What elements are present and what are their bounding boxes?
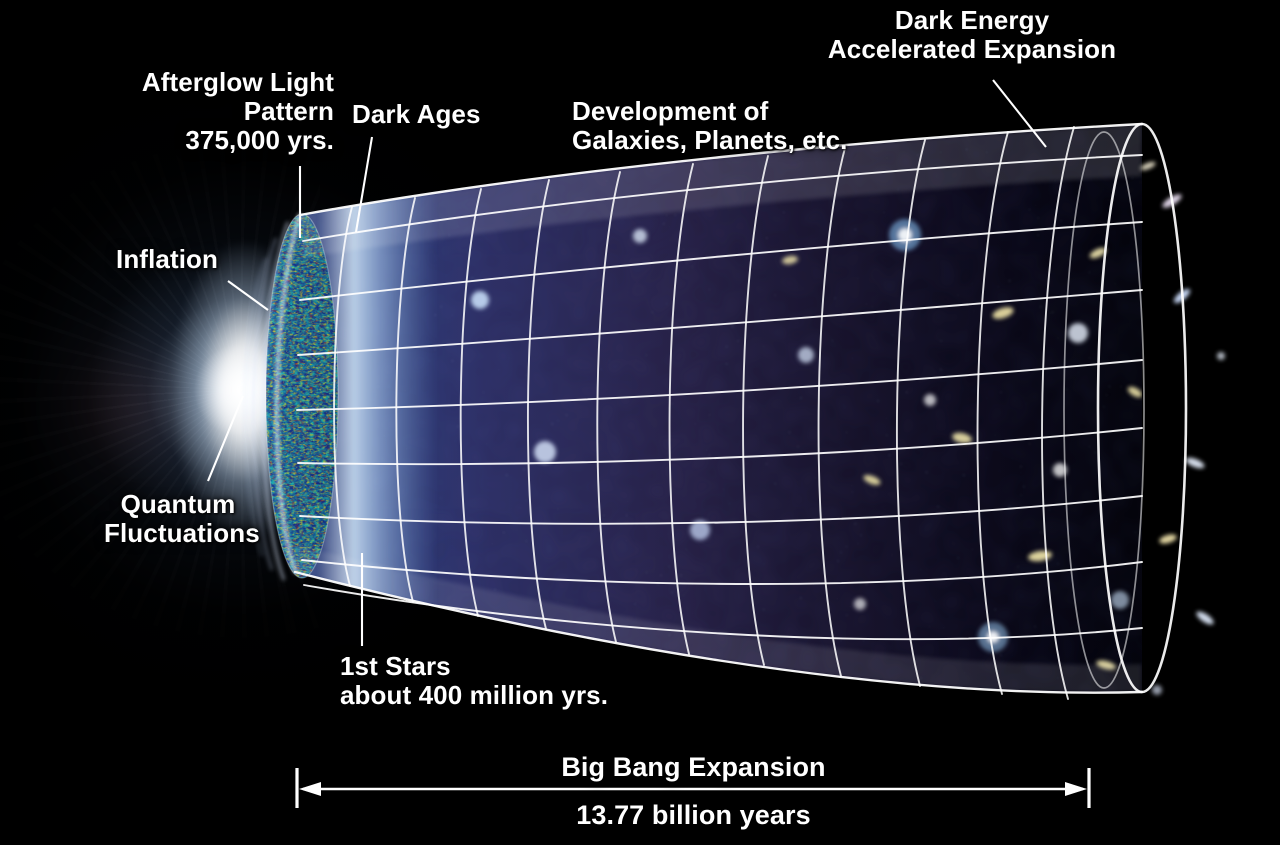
label-dark-ages: Dark Ages bbox=[352, 100, 481, 129]
label-inflation: Inflation bbox=[116, 245, 218, 274]
leader-quantum bbox=[208, 396, 243, 481]
label-afterglow-light-pattern: Afterglow Light Pattern 375,000 yrs. bbox=[104, 68, 334, 155]
label-development-of-galaxies: Development of Galaxies, Planets, etc. bbox=[572, 97, 847, 155]
label-big-bang-expansion: Big Bang Expansion bbox=[297, 752, 1090, 782]
label-total-duration: 13.77 billion years bbox=[297, 800, 1090, 830]
label-quantum-fluctuations: Quantum Fluctuations bbox=[104, 490, 252, 548]
universe-timeline-figure: Afterglow Light Pattern 375,000 yrs. Dar… bbox=[0, 0, 1280, 845]
label-first-stars: 1st Stars about 400 million yrs. bbox=[340, 652, 608, 710]
outer-galaxies bbox=[1139, 160, 1225, 695]
label-dark-energy: Dark Energy Accelerated Expansion bbox=[812, 6, 1132, 64]
